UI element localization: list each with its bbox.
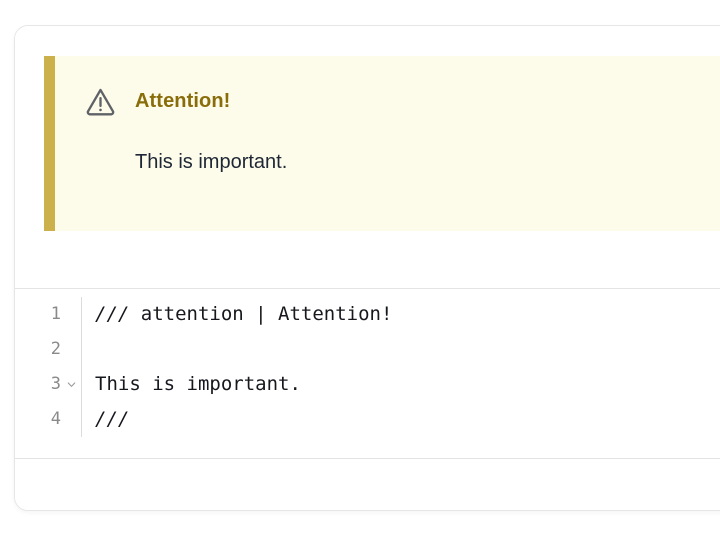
line-number: 2	[15, 332, 81, 367]
code-line[interactable]: ///	[95, 402, 720, 437]
warning-triangle-icon	[84, 85, 117, 118]
code-line[interactable]: This is important.	[95, 367, 720, 402]
admonition-attention: Attention! This is important.	[44, 56, 720, 231]
admonition-header: Attention!	[84, 85, 230, 118]
chevron-down-icon[interactable]	[64, 367, 78, 402]
card-footer	[15, 459, 720, 510]
code-editor-pane[interactable]: 1234 /// attention | Attention!This is i…	[15, 289, 720, 459]
admonition-title: Attention!	[135, 90, 230, 113]
line-number: 1	[15, 297, 81, 332]
code-editor-inner: 1234 /// attention | Attention!This is i…	[15, 297, 720, 437]
code-token-text: This is important.	[95, 373, 301, 395]
line-number: 3	[15, 367, 81, 402]
code-text-area[interactable]: /// attention | Attention!This is import…	[82, 297, 720, 437]
code-token-comment: ///	[95, 303, 141, 325]
code-line[interactable]: /// attention | Attention!	[95, 297, 720, 332]
preview-pane: Attention! This is important.	[15, 26, 720, 289]
screen-root: Attention! This is important. 1234 /// a…	[0, 0, 720, 544]
admonition-demo-card: Attention! This is important. 1234 /// a…	[14, 25, 720, 511]
code-token-comment: ///	[95, 408, 129, 430]
line-number: 4	[15, 402, 81, 437]
line-number-gutter: 1234	[15, 297, 82, 437]
admonition-body-text: This is important.	[135, 151, 287, 174]
code-token-text: attention | Attention!	[141, 303, 393, 325]
code-line[interactable]	[95, 332, 720, 367]
